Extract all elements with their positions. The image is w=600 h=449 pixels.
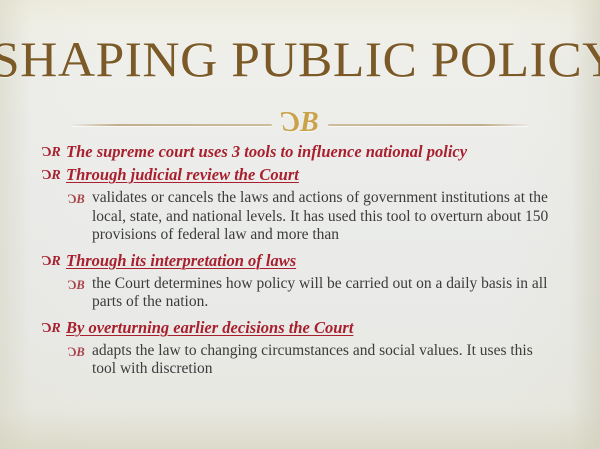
presentation-slide: SHAPING PUBLIC POLICY CB CR The supreme … [0, 0, 600, 449]
bullet-item: CR Through its interpretation of laws [44, 251, 572, 273]
sub-bullet-text: the Court determines how policy will be … [92, 275, 554, 312]
bullet-glyph-icon: CR [44, 142, 66, 164]
sub-bullet-text: validates or cancels the laws and action… [92, 189, 554, 245]
bullet-text: Through judicial review the Court [66, 165, 506, 185]
bullet-item: CR Through judicial review the Court [44, 165, 572, 187]
bullet-text: Through its interpretation of laws [66, 251, 506, 271]
sub-bullet-item: CB adapts the law to changing circumstan… [70, 342, 572, 379]
page-title: SHAPING PUBLIC POLICY [0, 32, 600, 86]
bullet-text: The supreme court uses 3 tools to influe… [66, 142, 506, 162]
sub-bullet-glyph-icon: CB [70, 342, 92, 363]
bullet-glyph-icon: CR [44, 165, 66, 187]
bullet-glyph-icon: CR [44, 251, 66, 273]
bullet-item: CR By overturning earlier decisions the … [44, 318, 572, 340]
bullet-item: CR The supreme court uses 3 tools to inf… [44, 142, 572, 164]
bullet-text: By overturning earlier decisions the Cou… [66, 318, 506, 338]
sub-bullet-glyph-icon: CB [70, 275, 92, 296]
bullet-glyph-icon: CR [44, 318, 66, 340]
title-divider: CB [0, 106, 600, 140]
sub-bullet-item: CB validates or cancels the laws and act… [70, 189, 572, 245]
flourish-ornament-icon: CB [0, 106, 600, 140]
sub-bullet-item: CB the Court determines how policy will … [70, 275, 572, 312]
slide-body-content: CR The supreme court uses 3 tools to inf… [44, 142, 572, 382]
sub-bullet-glyph-icon: CB [70, 189, 92, 210]
sub-bullet-text: adapts the law to changing circumstances… [92, 342, 554, 379]
title-block: SHAPING PUBLIC POLICY [0, 32, 600, 86]
